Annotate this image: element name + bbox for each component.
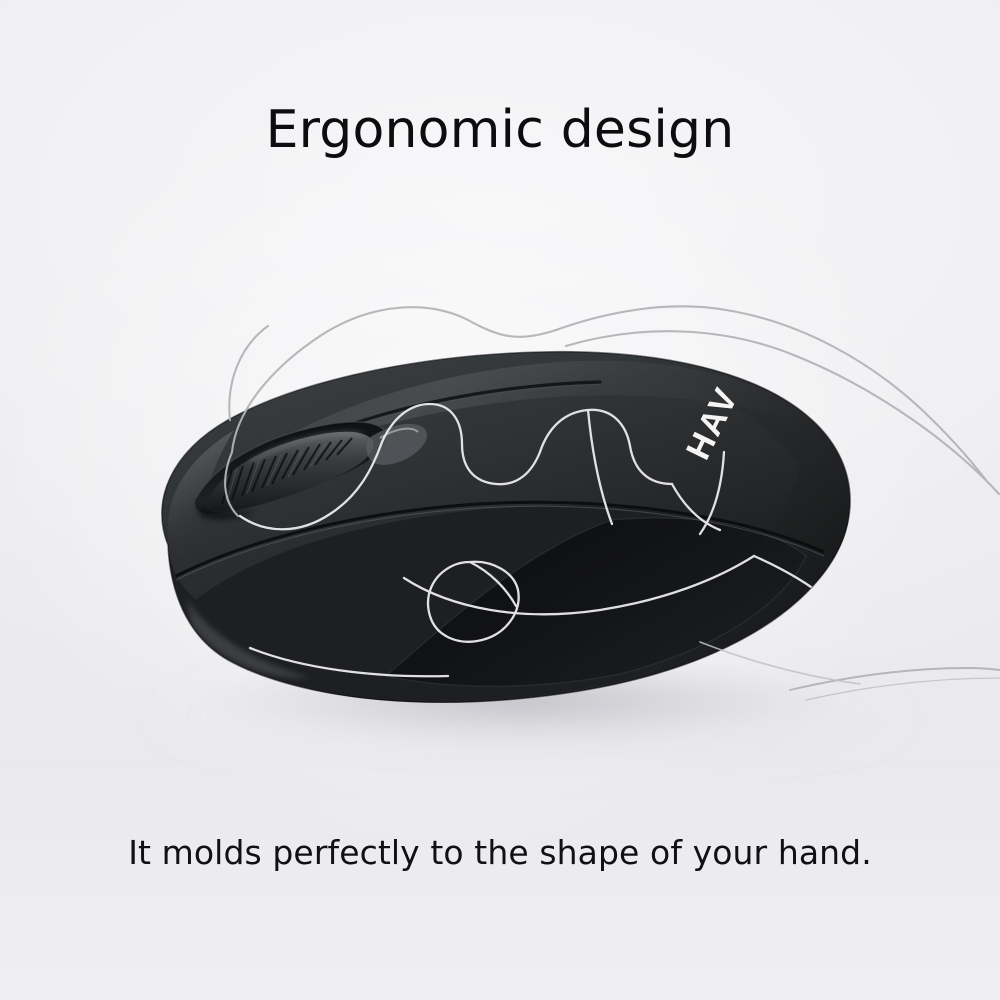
product-image-canvas: HAV <box>0 0 1000 1000</box>
page-title: Ergonomic design <box>0 104 1000 156</box>
page-caption: It molds perfectly to the shape of your … <box>0 836 1000 869</box>
